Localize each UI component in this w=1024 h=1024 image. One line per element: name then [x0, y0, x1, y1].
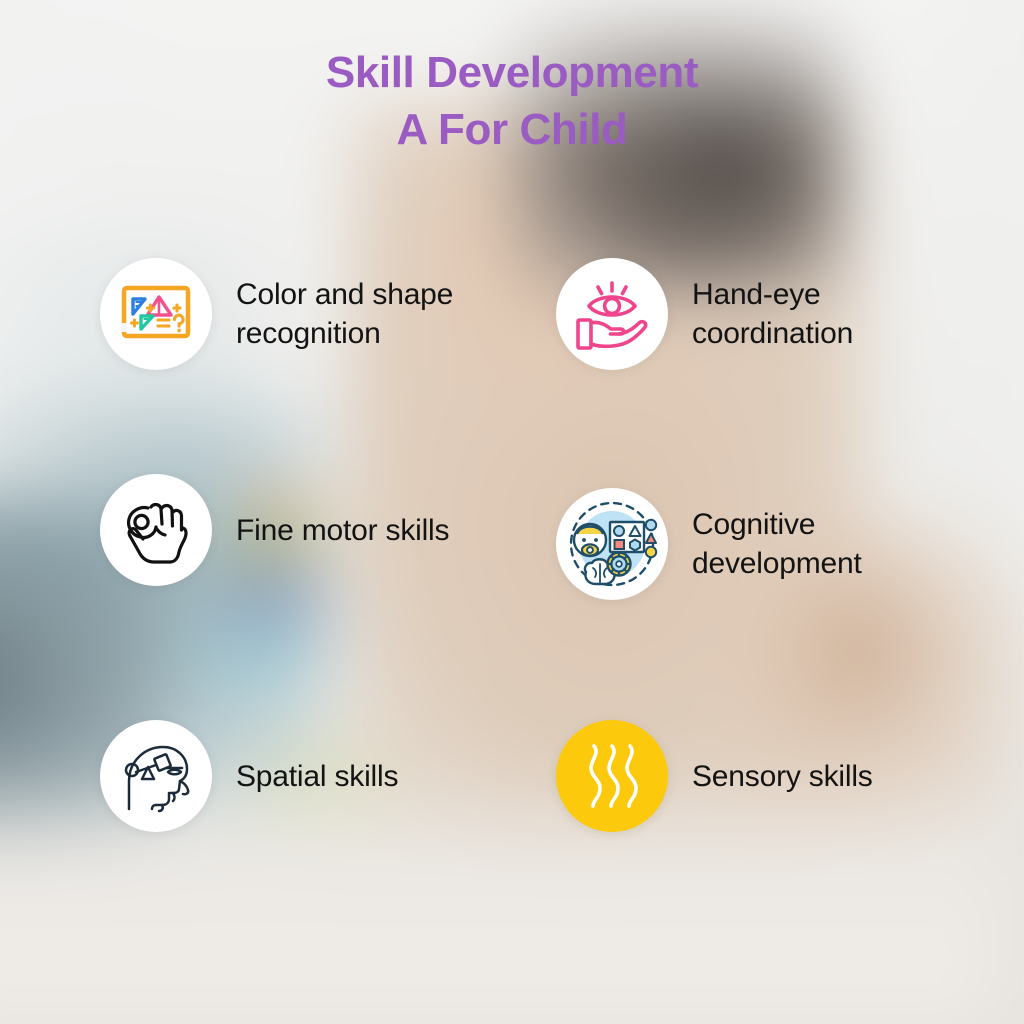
skill-item-cognitive-development[interactable]: Cognitive development	[556, 488, 862, 600]
skill-label: Sensory skills	[692, 757, 873, 796]
skill-label: Cognitive development	[692, 505, 862, 583]
head-profile-shapes-icon	[116, 737, 196, 815]
pinching-hand-icon	[118, 492, 194, 568]
eye-on-hand-icon	[573, 278, 651, 350]
skill-item-hand-eye-coordination[interactable]: Hand-eye coordination	[556, 258, 853, 370]
baby-shapes-brain-icon	[566, 498, 658, 590]
skill-label: Fine motor skills	[236, 511, 449, 550]
skill-label: Spatial skills	[236, 757, 398, 796]
skill-badge	[100, 258, 212, 370]
skill-item-spatial-skills[interactable]: Spatial skills	[100, 720, 398, 832]
skill-badge	[100, 720, 212, 832]
skill-badge	[556, 258, 668, 370]
skill-item-sensory-skills[interactable]: Sensory skills	[556, 720, 873, 832]
skill-badge	[556, 488, 668, 600]
skill-label: Hand-eye coordination	[692, 275, 853, 353]
infographic-poster: Skill Development A For Child	[0, 0, 1024, 1024]
skill-item-fine-motor-skills[interactable]: Fine motor skills	[100, 474, 449, 586]
shapes-board-icon	[119, 283, 193, 345]
skill-badge	[556, 720, 668, 832]
skill-item-color-and-shape-recognition[interactable]: Color and shape recognition	[100, 258, 453, 370]
scent-waves-icon	[579, 740, 645, 812]
page-title: Skill Development A For Child	[0, 44, 1024, 158]
skill-badge	[100, 474, 212, 586]
skill-label: Color and shape recognition	[236, 275, 453, 353]
